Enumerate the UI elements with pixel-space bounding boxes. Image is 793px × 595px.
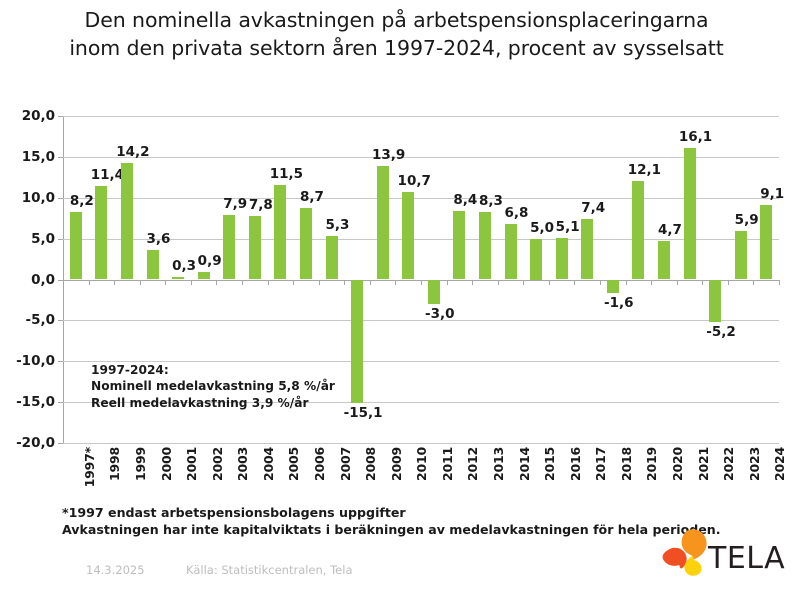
gridline xyxy=(63,157,779,158)
x-axis-tick-mark xyxy=(626,280,627,285)
bar xyxy=(147,250,159,279)
bar-value-label: 11,5 xyxy=(263,166,309,182)
y-axis-tick-label: 0,0 xyxy=(0,272,55,288)
tela-logo-text: TELA xyxy=(708,541,785,576)
x-axis-year-label: 1999 xyxy=(133,447,148,481)
x-axis-tick-mark xyxy=(63,280,64,285)
x-axis-year-label: 2010 xyxy=(414,447,429,481)
x-axis-tick-mark xyxy=(421,280,422,285)
x-axis-year-label: 2023 xyxy=(747,447,762,481)
bar xyxy=(326,236,338,279)
bar xyxy=(95,186,107,279)
gridline xyxy=(63,198,779,199)
x-axis-year-label: 1997* xyxy=(82,447,97,487)
x-axis-year-label: 2003 xyxy=(235,447,250,481)
bar xyxy=(70,212,82,279)
bar-value-label: -3,0 xyxy=(417,306,463,322)
footnote-1: *1997 endast arbetspensionsbolagens uppg… xyxy=(62,504,721,521)
bar xyxy=(581,219,593,279)
y-axis-tick-mark xyxy=(58,116,63,117)
bar xyxy=(709,280,721,323)
bar-value-label: 12,1 xyxy=(621,162,667,178)
x-axis-tick-mark xyxy=(728,280,729,285)
bar xyxy=(274,185,286,279)
bar xyxy=(684,148,696,280)
x-axis-year-label: 2000 xyxy=(159,447,174,481)
x-axis-tick-mark xyxy=(651,280,652,285)
x-axis-year-label: 2001 xyxy=(184,447,199,481)
x-axis-year-label: 2021 xyxy=(696,447,711,481)
footer-date: 14.3.2025 xyxy=(86,563,145,577)
x-axis-year-label: 2014 xyxy=(517,447,532,481)
x-axis-tick-mark xyxy=(447,280,448,285)
x-axis-year-label: 2004 xyxy=(261,447,276,481)
bar-value-label: 16,1 xyxy=(673,129,719,145)
x-axis-tick-mark xyxy=(779,280,780,285)
bar-value-label: 5,3 xyxy=(315,217,361,233)
bar xyxy=(121,163,133,279)
bar xyxy=(607,280,619,293)
bar xyxy=(249,216,261,280)
x-axis-year-label: 2016 xyxy=(568,447,583,481)
bar xyxy=(351,280,363,403)
y-axis-tick-label: -15,0 xyxy=(0,394,55,410)
x-axis-year-label: 2022 xyxy=(721,447,736,481)
bar-value-label: -1,6 xyxy=(596,295,642,311)
bar xyxy=(198,272,210,279)
x-axis-tick-mark xyxy=(216,280,217,285)
bar xyxy=(479,212,491,280)
footnote-2: Avkastningen har inte kapitalviktats i b… xyxy=(62,521,721,538)
y-axis-tick-label: 10,0 xyxy=(0,190,55,206)
y-axis-tick-label: -10,0 xyxy=(0,353,55,369)
x-axis-tick-mark xyxy=(114,280,115,285)
bar xyxy=(530,239,542,280)
x-axis-year-label: 2013 xyxy=(491,447,506,481)
y-axis-tick-label: 5,0 xyxy=(0,231,55,247)
annotation-line-2: Nominell medelavkastning 5,8 %/år xyxy=(91,378,335,394)
y-axis-tick-label: 15,0 xyxy=(0,149,55,165)
x-axis-tick-mark xyxy=(319,280,320,285)
bar xyxy=(223,215,235,280)
title-line-2: inom den privata sektorn åren 1997-2024,… xyxy=(0,34,793,62)
bar xyxy=(735,231,747,279)
y-axis-tick-label: -5,0 xyxy=(0,312,55,328)
x-axis-year-label: 2002 xyxy=(210,447,225,481)
x-axis-year-label: 2024 xyxy=(772,447,787,481)
bar-value-label: 7,4 xyxy=(570,200,616,216)
x-axis-year-label: 2018 xyxy=(619,447,634,481)
x-axis-tick-mark xyxy=(370,280,371,285)
y-axis-tick-mark xyxy=(58,443,63,444)
bar xyxy=(428,280,440,305)
x-axis-year-label: 2020 xyxy=(670,447,685,481)
bar-value-label: 8,7 xyxy=(289,189,335,205)
x-axis-tick-mark xyxy=(677,280,678,285)
x-axis-tick-mark xyxy=(140,280,141,285)
bar xyxy=(505,224,517,280)
x-axis-tick-mark xyxy=(395,280,396,285)
bar-value-label: 14,2 xyxy=(110,144,156,160)
y-axis-tick-label: 20,0 xyxy=(0,108,55,124)
x-axis-tick-mark xyxy=(753,280,754,285)
bar-value-label: 3,6 xyxy=(136,231,182,247)
y-axis-tick-mark xyxy=(58,402,63,403)
x-axis-tick-mark xyxy=(191,280,192,285)
bar-value-label: 13,9 xyxy=(366,147,412,163)
y-axis-tick-label: -20,0 xyxy=(0,435,55,451)
x-axis-tick-mark xyxy=(293,280,294,285)
y-axis-tick-mark xyxy=(58,320,63,321)
x-axis-tick-mark xyxy=(242,280,243,285)
bar xyxy=(658,241,670,279)
x-axis-tick-mark xyxy=(523,280,524,285)
bar xyxy=(402,192,414,279)
bar xyxy=(300,208,312,279)
x-axis-year-label: 2006 xyxy=(312,447,327,481)
logo-petal-yellow xyxy=(684,556,701,576)
bar-value-label: -5,2 xyxy=(698,324,744,340)
x-axis-tick-mark xyxy=(702,280,703,285)
x-axis-year-label: 2017 xyxy=(593,447,608,481)
annotation-line-1: 1997-2024: xyxy=(91,362,335,378)
x-axis-year-label: 2005 xyxy=(286,447,301,481)
bar xyxy=(556,238,568,280)
footer-source: Källa: Statistikcentralen, Tela xyxy=(186,563,353,577)
x-axis-year-label: 1998 xyxy=(107,447,122,481)
bar xyxy=(632,181,644,280)
x-axis-year-label: 2007 xyxy=(338,447,353,481)
bar-value-label: 6,8 xyxy=(494,205,540,221)
bar xyxy=(377,166,389,280)
gridline xyxy=(63,443,779,444)
page-title: Den nominella avkastningen på arbetspens… xyxy=(0,6,793,62)
bar-value-label: -15,1 xyxy=(340,405,386,421)
bar-value-label: 9,1 xyxy=(749,186,793,202)
y-axis-tick-mark xyxy=(58,361,63,362)
tela-logo: TELA xyxy=(660,527,784,585)
x-axis-tick-mark xyxy=(574,280,575,285)
x-axis-year-label: 2008 xyxy=(363,447,378,481)
y-axis-tick-mark xyxy=(58,157,63,158)
bar xyxy=(453,211,465,280)
title-line-1: Den nominella avkastningen på arbetspens… xyxy=(0,6,793,34)
chart-annotation: 1997-2024: Nominell medelavkastning 5,8 … xyxy=(91,362,335,411)
x-axis-year-label: 2009 xyxy=(389,447,404,481)
x-axis-year-label: 2019 xyxy=(644,447,659,481)
y-axis-tick-mark xyxy=(58,239,63,240)
x-axis-tick-mark xyxy=(165,280,166,285)
x-axis-year-label: 2012 xyxy=(465,447,480,481)
bar xyxy=(760,205,772,279)
footnotes: *1997 endast arbetspensionsbolagens uppg… xyxy=(62,504,721,538)
x-axis-year-label: 2015 xyxy=(542,447,557,481)
x-axis-tick-mark xyxy=(549,280,550,285)
x-axis-tick-mark xyxy=(472,280,473,285)
x-axis-tick-mark xyxy=(89,280,90,285)
x-axis-year-label: 2011 xyxy=(440,447,455,481)
x-axis-tick-mark xyxy=(344,280,345,285)
annotation-line-3: Reell medelavkastning 3,9 %/år xyxy=(91,395,335,411)
x-axis-tick-mark xyxy=(268,280,269,285)
bar xyxy=(172,277,184,279)
bar-value-label: 10,7 xyxy=(391,173,437,189)
x-axis-tick-mark xyxy=(498,280,499,285)
x-axis-tick-mark xyxy=(600,280,601,285)
gridline xyxy=(63,116,779,117)
